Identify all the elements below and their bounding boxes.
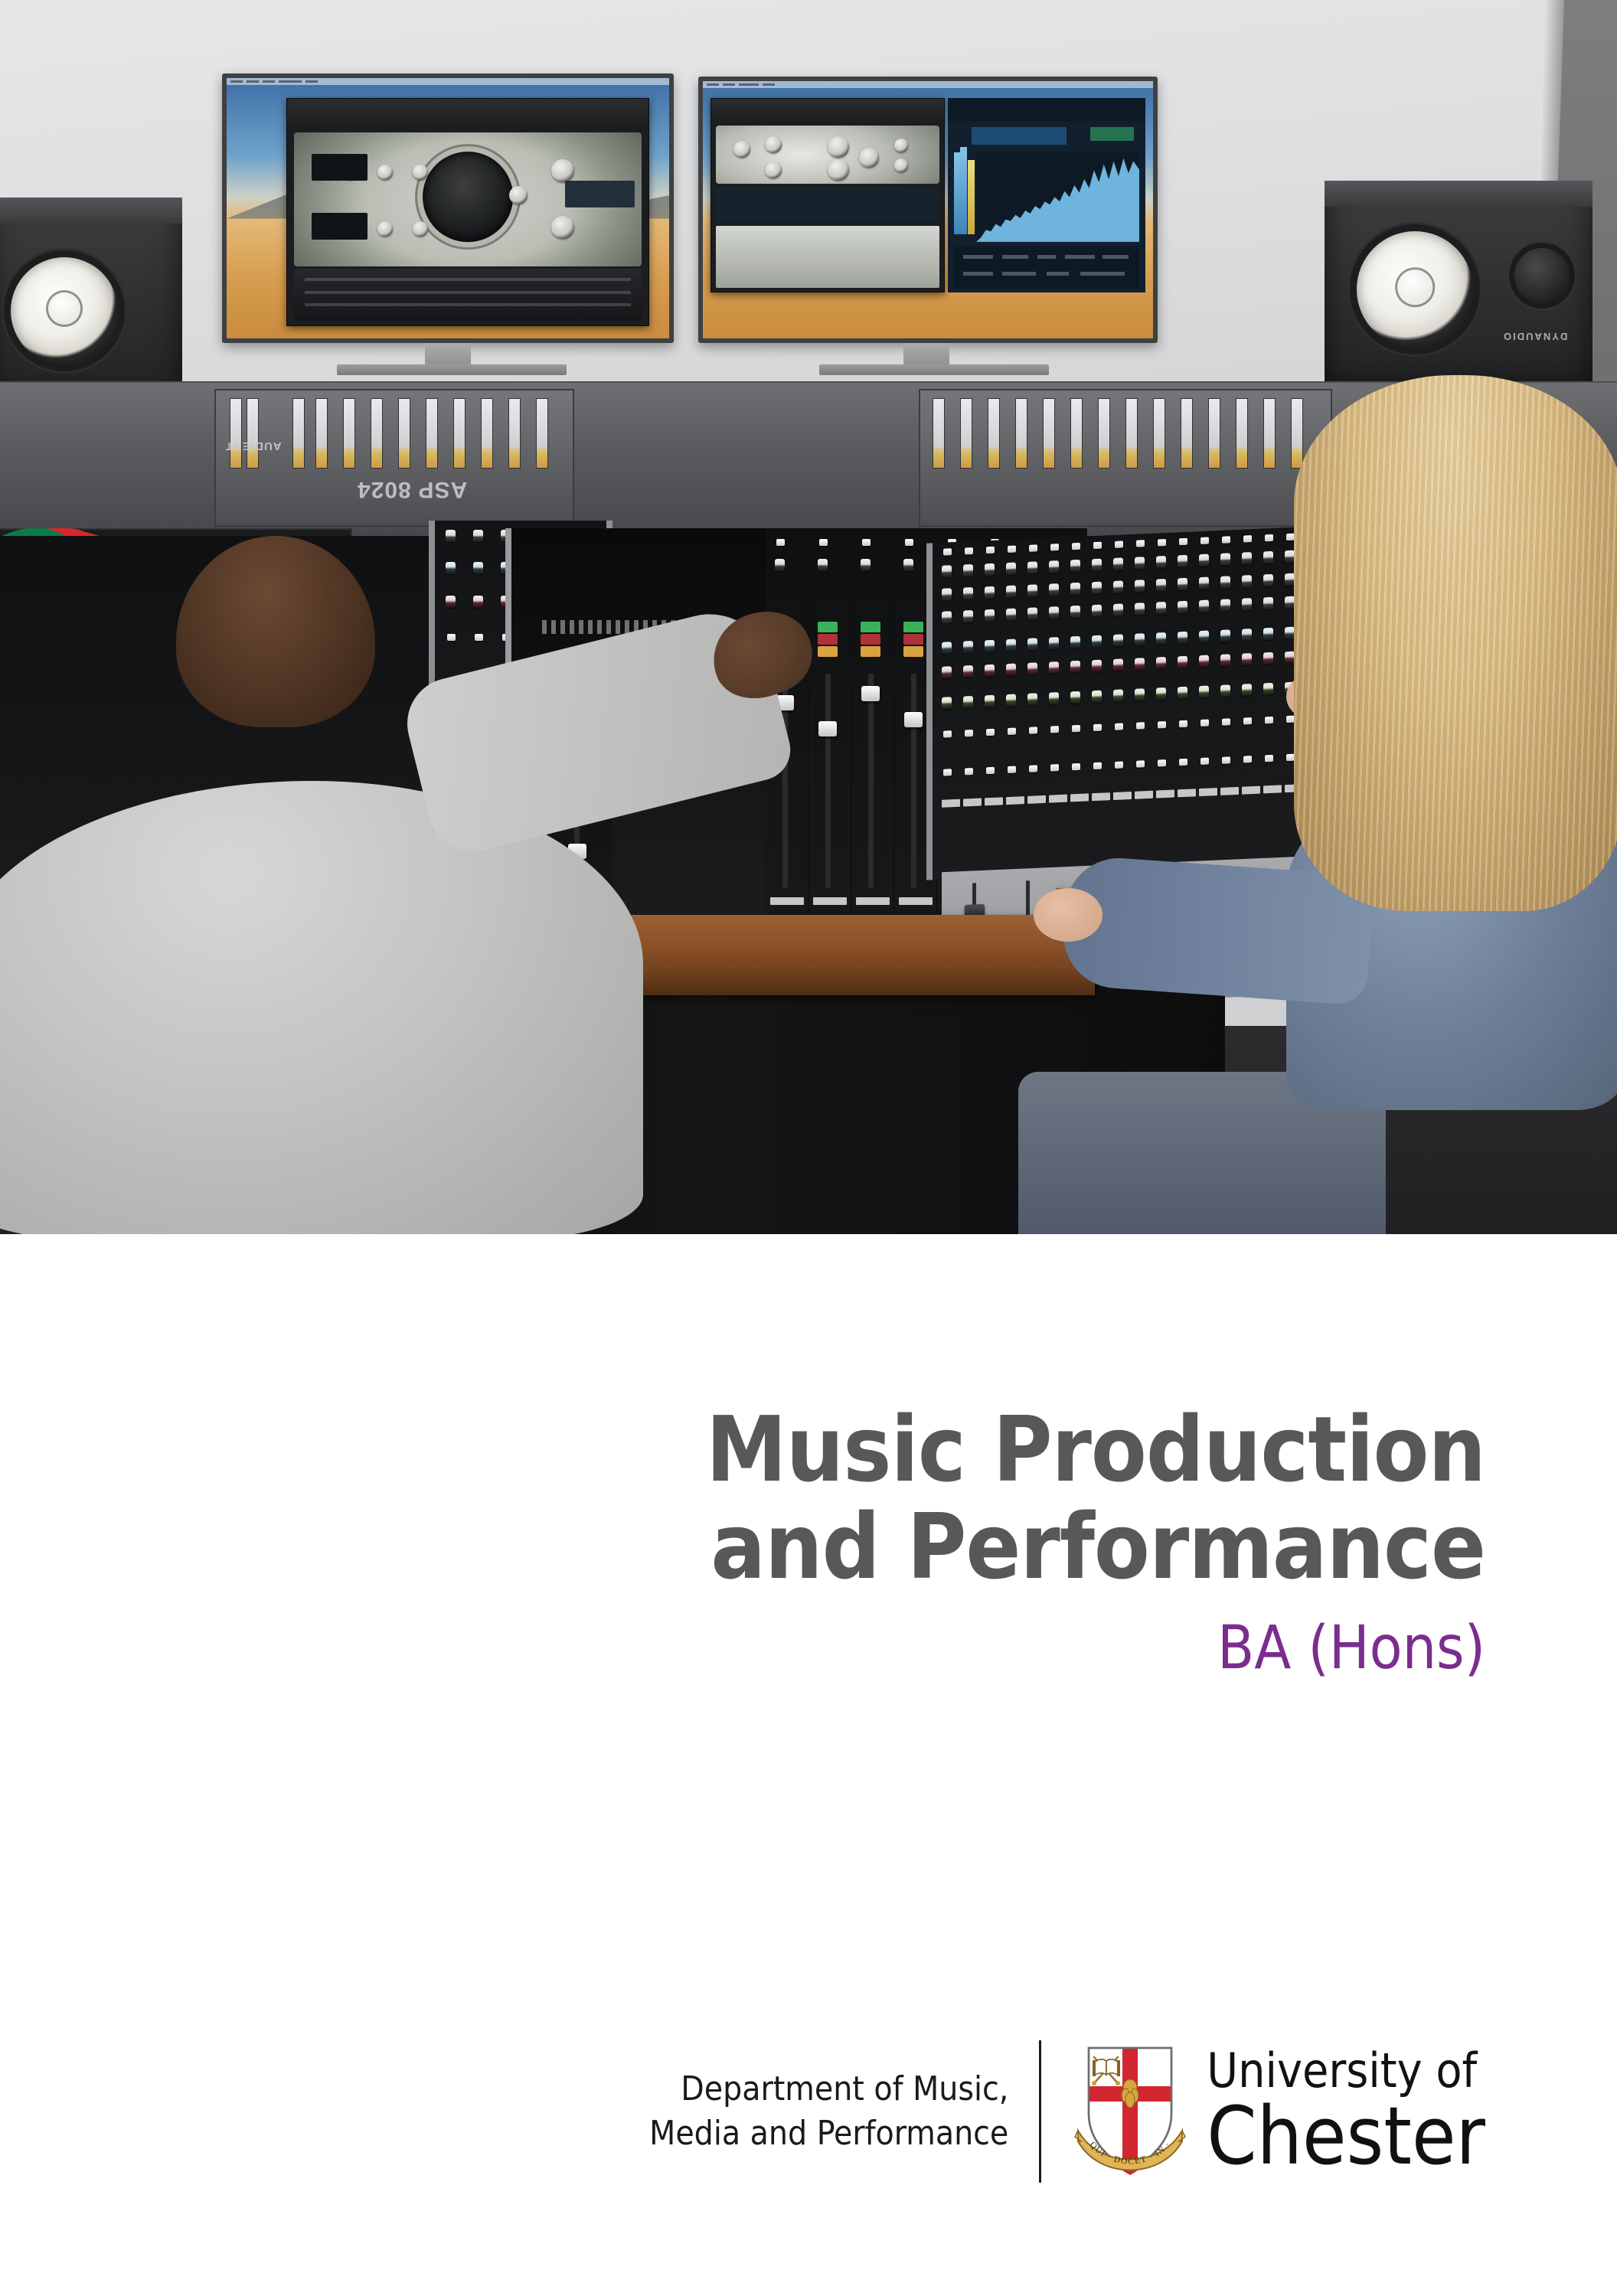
vu-meter bbox=[1125, 398, 1138, 469]
channel-button-green bbox=[818, 622, 838, 632]
studio-monitor-speaker-right: DYNAUDIO bbox=[1325, 181, 1592, 386]
console-model-label: ASP 8024 bbox=[357, 476, 467, 502]
speaker-top-face-left bbox=[0, 198, 182, 224]
channel-scribble-strip bbox=[899, 897, 933, 905]
page-title-line1: Music Production bbox=[0, 1401, 1485, 1498]
analyzer-readouts bbox=[954, 246, 1139, 289]
vu-meter bbox=[343, 398, 355, 469]
fader-cap bbox=[861, 686, 880, 701]
plugin-display-bottom bbox=[312, 213, 367, 240]
channel-button-red bbox=[818, 634, 838, 645]
channel-scribble-strip bbox=[770, 897, 804, 905]
plugin-display-left bbox=[312, 154, 367, 181]
plugin-knob bbox=[828, 159, 849, 181]
fader-cap bbox=[904, 712, 923, 727]
studio-monitor-speaker-left bbox=[0, 198, 182, 397]
cover-footer: Department of Music, Media and Performan… bbox=[0, 2040, 1617, 2183]
plugin-sequencer-left bbox=[294, 269, 641, 321]
department-name: Department of Music, Media and Performan… bbox=[649, 2067, 1039, 2156]
vu-meter bbox=[1015, 398, 1027, 469]
plugin-knob bbox=[509, 186, 528, 204]
analyzer-title-label bbox=[1090, 127, 1134, 141]
channel-button-red bbox=[903, 634, 923, 645]
vu-meter bbox=[1291, 398, 1303, 469]
vu-meter bbox=[1263, 398, 1276, 469]
speaker-top-face-right bbox=[1325, 181, 1592, 207]
plugin-knob bbox=[765, 136, 782, 153]
vu-meter bbox=[508, 398, 521, 469]
page-title-line2: and Performance bbox=[0, 1498, 1485, 1595]
fader-track bbox=[825, 674, 831, 888]
channel-button-amber bbox=[861, 646, 880, 657]
university-line-1: University of bbox=[1207, 2047, 1485, 2095]
plugin-main-dial-left bbox=[423, 152, 513, 242]
plugin-knob bbox=[413, 165, 428, 180]
plugin-knob bbox=[551, 159, 574, 182]
synth-plugin-window-left bbox=[286, 98, 649, 326]
analyzer-selected-row bbox=[972, 127, 1067, 145]
plugin-knob bbox=[551, 216, 574, 239]
analyzer-graph bbox=[976, 152, 1140, 242]
plugin-envelope-right bbox=[716, 226, 939, 288]
vu-meter bbox=[988, 398, 1000, 469]
vu-meter bbox=[315, 398, 328, 469]
analyzer-level-meter bbox=[960, 147, 967, 234]
vu-meter bbox=[481, 398, 493, 469]
meter-bridge-panel-left: ASP 8024 AUDIENT bbox=[214, 389, 574, 527]
cover-title-block: Music Production and Performance BA (Hon… bbox=[0, 1401, 1617, 1686]
cover-photo: DYNAUDIO bbox=[0, 0, 1617, 1234]
channel-button-red bbox=[861, 634, 880, 645]
vu-meter bbox=[398, 398, 410, 469]
vu-meter bbox=[1070, 398, 1083, 469]
channel-button-green bbox=[903, 622, 923, 632]
university-crest-icon: QUI · DOCET · IN · DOCTRINA bbox=[1073, 2040, 1187, 2183]
channel-scribble-strip bbox=[856, 897, 890, 905]
plugin-knob bbox=[377, 221, 393, 237]
university-wordmark: University of Chester bbox=[1187, 2047, 1485, 2176]
vu-meter bbox=[1208, 398, 1220, 469]
computer-monitor-right bbox=[698, 77, 1158, 343]
plugin-knob bbox=[894, 139, 908, 152]
award-label: BA (Hons) bbox=[0, 1612, 1485, 1687]
analyzer-peak-meter bbox=[968, 160, 975, 234]
vu-meter bbox=[960, 398, 972, 469]
vu-meter bbox=[453, 398, 465, 469]
plugin-knob bbox=[765, 162, 782, 178]
plugin-panel-right bbox=[716, 126, 939, 184]
synth-plugin-window-right bbox=[710, 98, 945, 292]
console-brand-label: AUDIENT bbox=[225, 439, 282, 452]
plugin-titlebar-right bbox=[711, 99, 944, 126]
plugin-display-right bbox=[565, 181, 635, 207]
monitor-base-right bbox=[819, 364, 1049, 375]
plugin-titlebar-left bbox=[287, 99, 648, 130]
channel-scribble-strip bbox=[813, 897, 847, 905]
plugin-knob bbox=[733, 141, 750, 158]
macos-menubar-right bbox=[703, 81, 1153, 88]
vu-meter bbox=[426, 398, 438, 469]
speaker-tweeter-right bbox=[1514, 248, 1570, 303]
plugin-knob bbox=[377, 165, 393, 180]
plugin-modmatrix-right bbox=[716, 188, 939, 222]
speaker-woofer-right bbox=[1357, 231, 1473, 348]
vu-meter bbox=[1236, 398, 1248, 469]
vu-meter bbox=[933, 398, 945, 469]
channel-button-green bbox=[861, 622, 880, 632]
vu-meter bbox=[536, 398, 548, 469]
plugin-knob bbox=[828, 136, 849, 158]
fader-track bbox=[911, 674, 916, 888]
analyzer-spectrum-curve bbox=[976, 152, 1140, 242]
vu-meter bbox=[1043, 398, 1055, 469]
plugin-panel-left bbox=[294, 132, 641, 266]
vu-meter bbox=[230, 398, 242, 469]
spectrum-analyzer-window bbox=[948, 98, 1145, 292]
plugin-knob bbox=[894, 158, 908, 172]
department-line-2: Media and Performance bbox=[649, 2111, 1008, 2156]
speaker-woofer-left bbox=[11, 257, 118, 364]
channel-button-amber bbox=[903, 646, 923, 657]
monitor-base-left bbox=[337, 364, 567, 375]
student-right-hair bbox=[1294, 375, 1617, 911]
computer-monitor-left bbox=[222, 73, 674, 343]
plugin-knob bbox=[859, 148, 879, 168]
vu-meter bbox=[1181, 398, 1193, 469]
student-left-body bbox=[0, 781, 643, 1234]
meter-bridge-panel-right bbox=[919, 389, 1332, 527]
vu-meter bbox=[1098, 398, 1110, 469]
student-right-hand bbox=[1034, 888, 1102, 942]
vu-meter bbox=[371, 398, 383, 469]
macos-menubar-left bbox=[227, 78, 669, 85]
fader-cap bbox=[818, 721, 837, 736]
vu-meter bbox=[247, 398, 259, 469]
analyzer-toolbar bbox=[948, 98, 1145, 121]
channel-button-amber bbox=[818, 646, 838, 657]
plugin-knob bbox=[413, 221, 428, 237]
university-lockup: QUI · DOCET · IN · DOCTRINA University o… bbox=[1041, 2040, 1485, 2183]
department-line-1: Department of Music, bbox=[649, 2067, 1008, 2111]
vu-meter bbox=[1153, 398, 1165, 469]
fader-track bbox=[868, 674, 874, 888]
speaker-brand-badge: DYNAUDIO bbox=[1502, 331, 1567, 342]
university-line-2: Chester bbox=[1207, 2096, 1485, 2176]
vu-meter bbox=[292, 398, 305, 469]
